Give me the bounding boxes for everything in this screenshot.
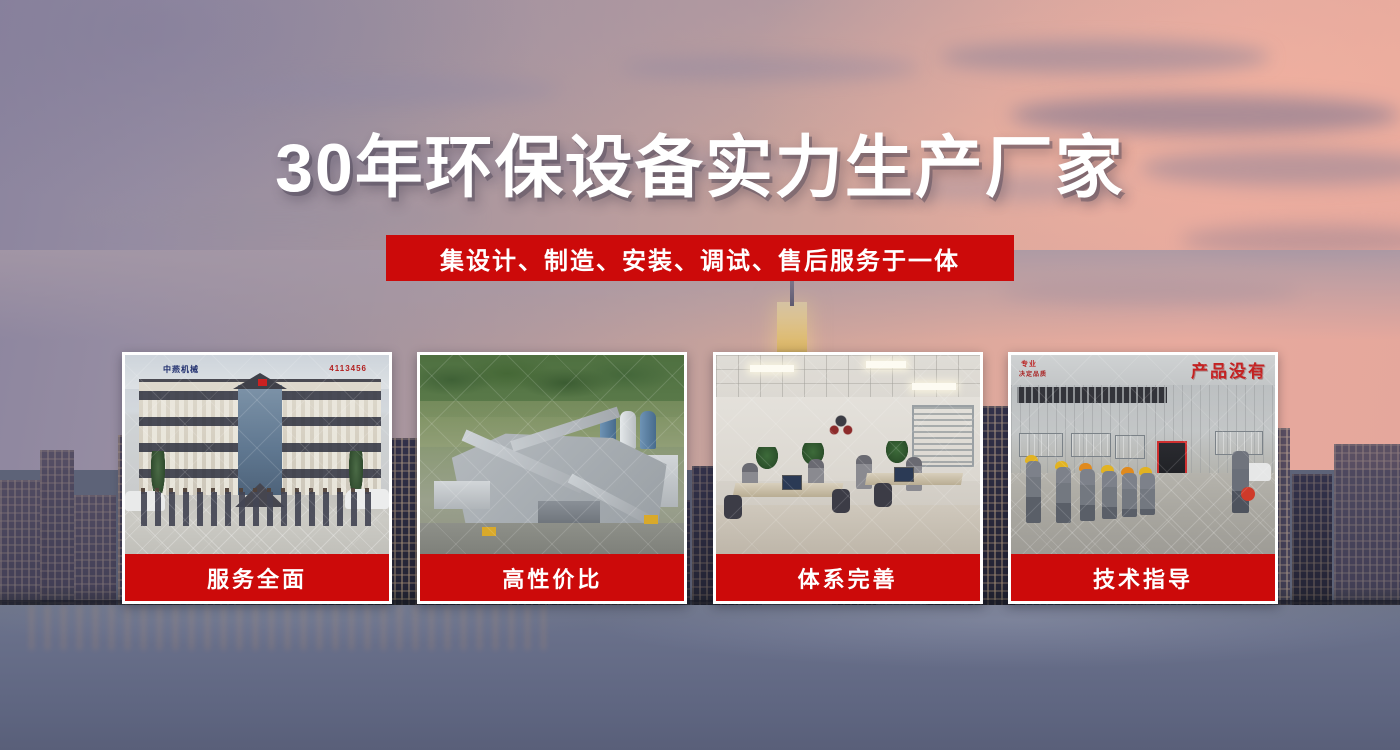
feature-card[interactable]: 专业 决定品质 产品没有 [1008, 352, 1278, 604]
building-sign-text: 中燕机械 [163, 364, 199, 375]
workers-training-photo: 专业 决定品质 产品没有 [1011, 355, 1275, 557]
office-interior-photo [716, 355, 980, 557]
cloud [940, 40, 1270, 74]
factory-slogan-left-top: 专业 [1021, 359, 1037, 369]
feature-card-label: 体系完善 [798, 562, 898, 594]
feature-card[interactable]: 体系完善 [713, 352, 983, 604]
building-phone-text: 4113456 [329, 364, 367, 373]
cloud [60, 205, 480, 229]
feature-card-label: 高性价比 [502, 562, 602, 594]
feature-card-caption: 高性价比 [420, 554, 684, 601]
cloud [1010, 95, 1400, 135]
factory-slogan-main: 产品没有 [1191, 357, 1267, 382]
feature-card-label: 服务全面 [207, 562, 307, 594]
feature-card-caption: 服务全面 [125, 554, 389, 601]
feature-card-list: 中燕机械 4113456 服务全面 [122, 352, 1278, 604]
river-light-reflections [30, 606, 550, 650]
cloud [200, 75, 560, 105]
page-title: 30年环保设备实力生产厂家 [0, 133, 1400, 204]
subtitle-banner: 集设计、制造、安装、调试、售后服务于一体 [386, 235, 1014, 281]
feature-card-caption: 技术指导 [1011, 554, 1275, 601]
feature-card-label: 技术指导 [1093, 562, 1193, 594]
promo-banner: 30年环保设备实力生产厂家 集设计、制造、安装、调试、售后服务于一体 中燕机械 … [0, 0, 1400, 750]
feature-card[interactable]: 高性价比 [417, 352, 687, 604]
feature-card[interactable]: 中燕机械 4113456 服务全面 [122, 352, 392, 604]
aerial-plant-photo [420, 355, 684, 557]
subtitle-text: 集设计、制造、安装、调试、售后服务于一体 [440, 241, 960, 276]
factory-slogan-left-bottom: 决定品质 [1019, 369, 1047, 378]
company-headquarters-photo: 中燕机械 4113456 [125, 355, 389, 557]
cloud [620, 55, 920, 81]
feature-card-caption: 体系完善 [716, 554, 980, 601]
